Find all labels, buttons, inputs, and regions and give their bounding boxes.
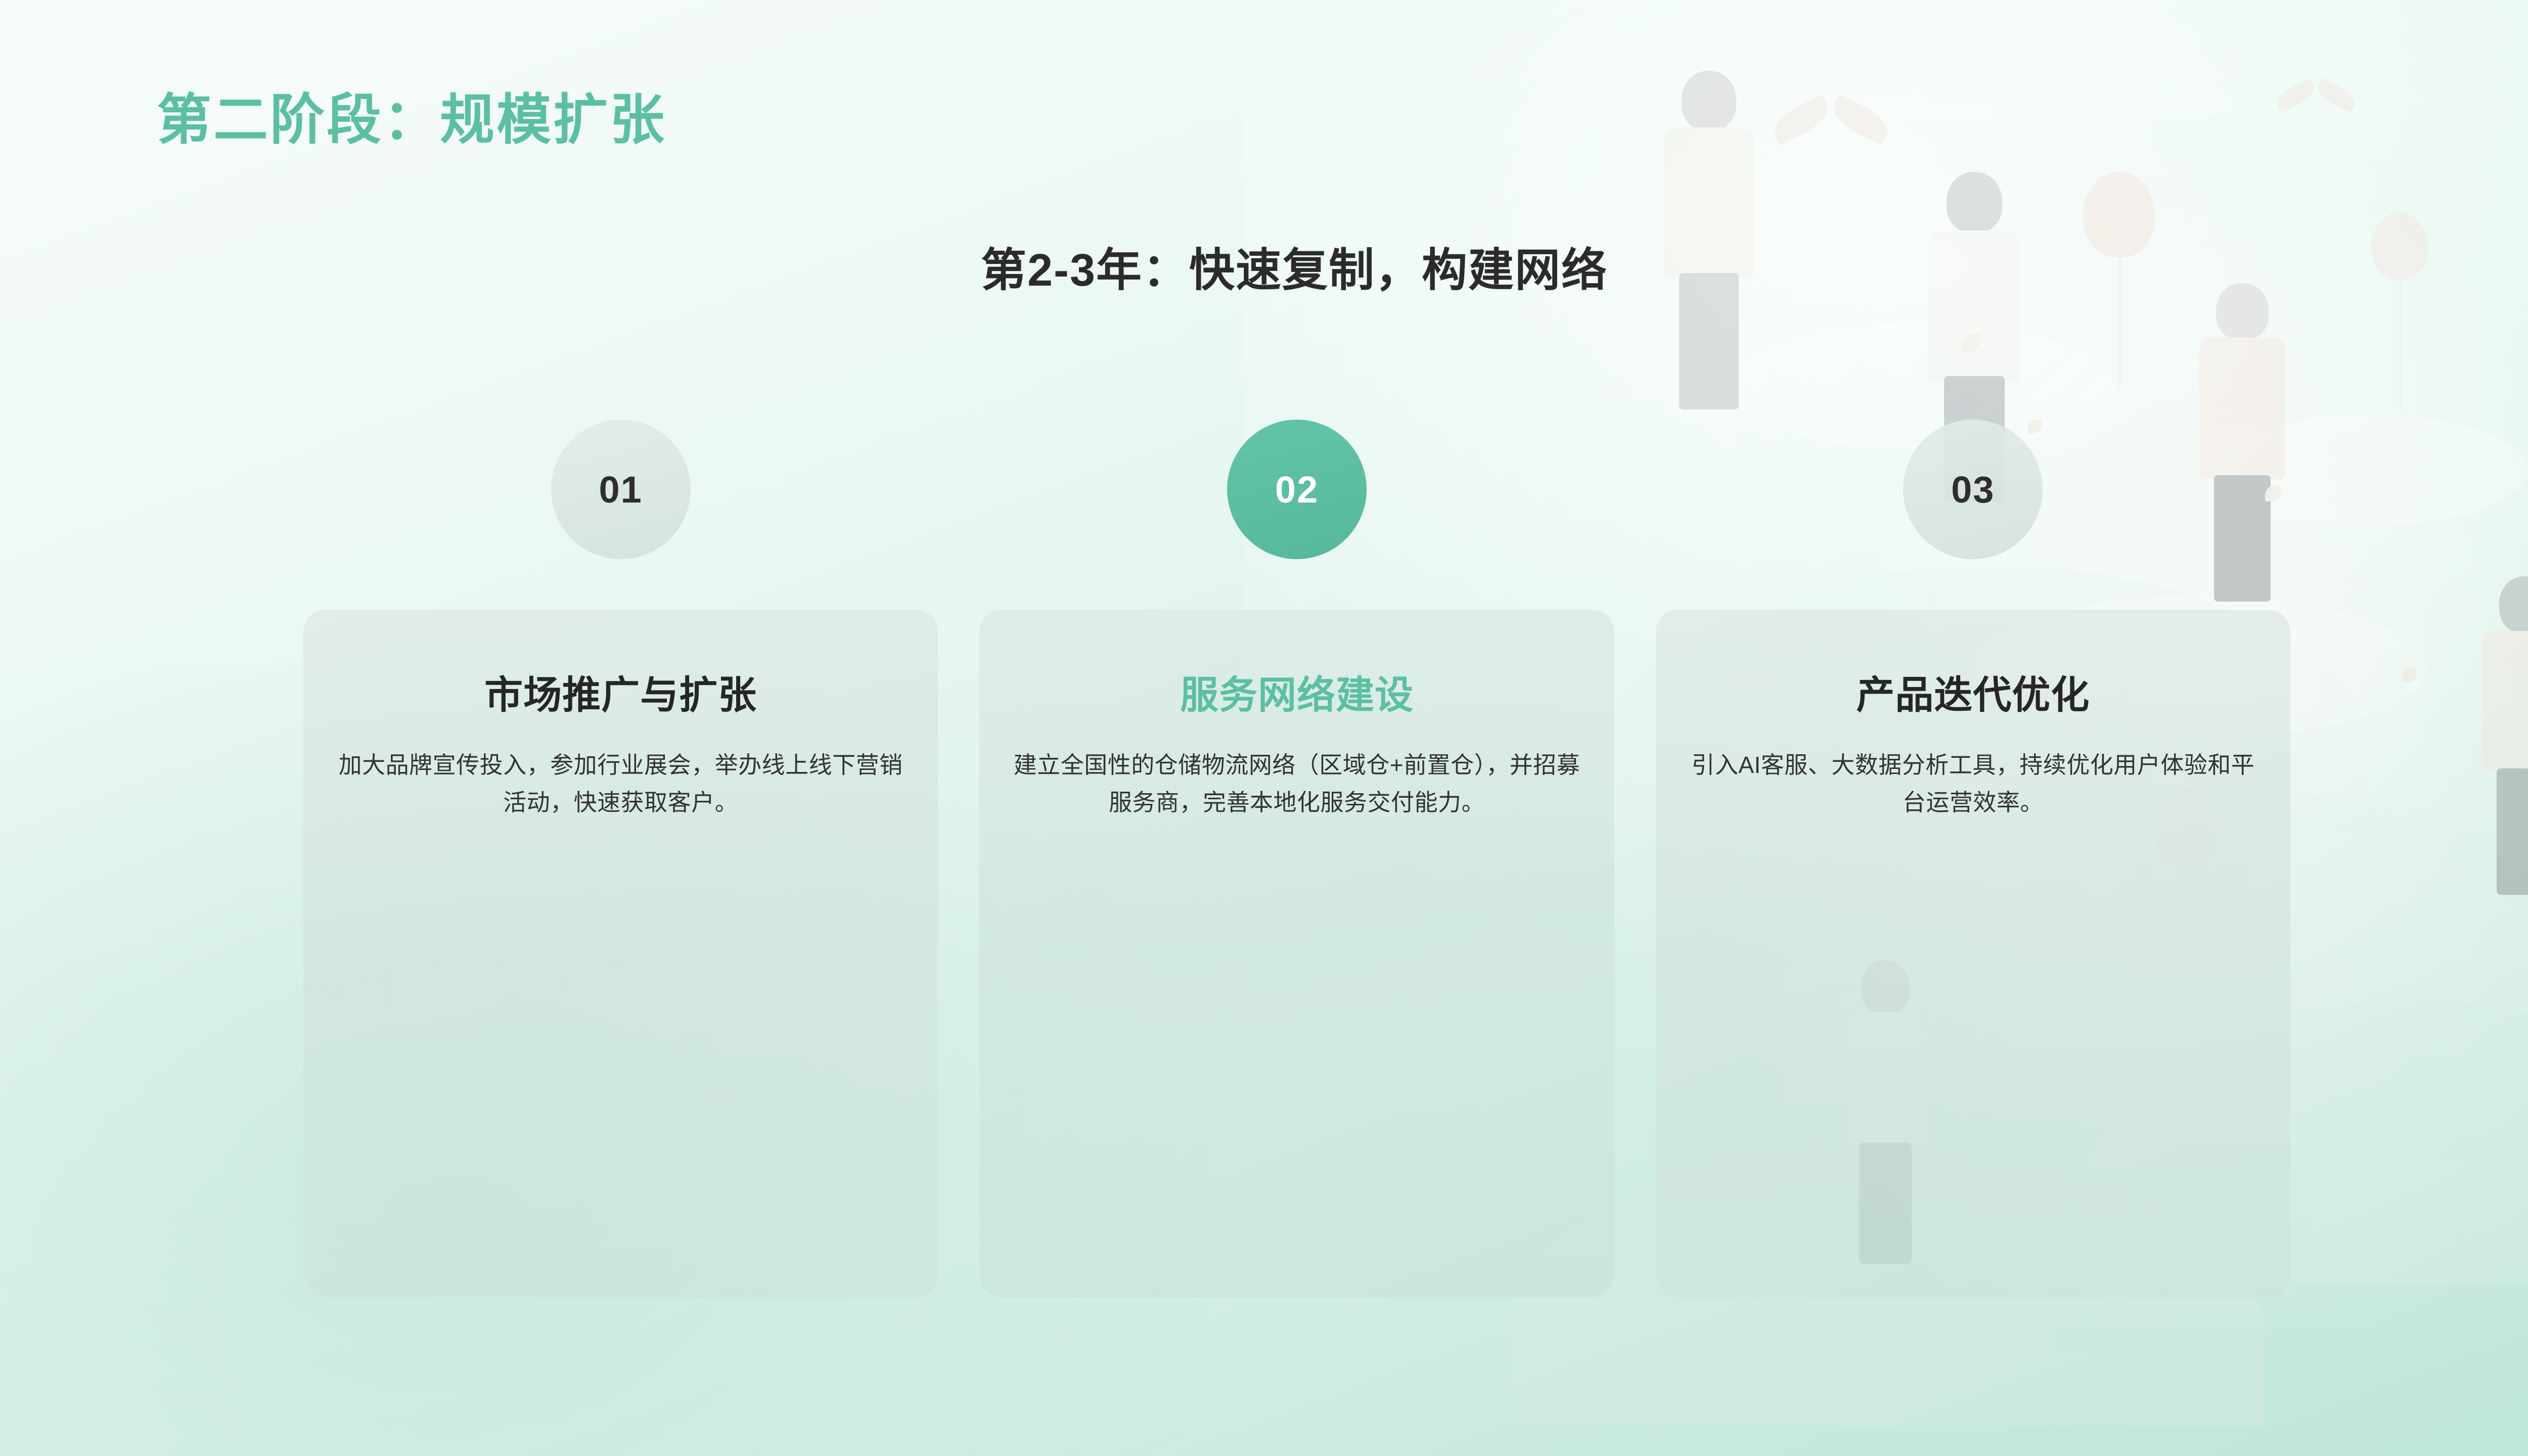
step-card-title: 市场推广与扩张 xyxy=(335,674,907,717)
step-column-03: 03 产品迭代优化 引入AI客服、大数据分析工具，持续优化用户体验和平台运营效率… xyxy=(1656,420,2290,1297)
section-subtitle: 第2-3年：快速复制，构建网络 xyxy=(0,248,2528,293)
step-card-description: 建立全国性的仓储物流网络（区域仓+前置仓），并招募服务商，完善本地化服务交付能力… xyxy=(1011,746,1583,822)
slide-content: 第二阶段：规模扩张 第2-3年：快速复制，构建网络 01 市场推广与扩张 加大品… xyxy=(0,0,2528,1456)
step-card-title: 产品迭代优化 xyxy=(1687,674,2259,717)
step-badge-01[interactable]: 01 xyxy=(551,420,691,559)
step-number-label: 01 xyxy=(599,468,643,511)
step-card-02[interactable]: 服务网络建设 建立全国性的仓储物流网络（区域仓+前置仓），并招募服务商，完善本地… xyxy=(979,610,1614,1297)
step-card-03[interactable]: 产品迭代优化 引入AI客服、大数据分析工具，持续优化用户体验和平台运营效率。 xyxy=(1656,610,2290,1297)
steps-row: 01 市场推广与扩张 加大品牌宣传投入，参加行业展会，举办线上线下营销活动，快速… xyxy=(303,420,2290,1297)
step-card-description: 引入AI客服、大数据分析工具，持续优化用户体验和平台运营效率。 xyxy=(1687,746,2259,822)
step-badge-02[interactable]: 02 xyxy=(1227,420,1367,559)
step-card-title: 服务网络建设 xyxy=(1011,674,1583,717)
step-card-01[interactable]: 市场推广与扩张 加大品牌宣传投入，参加行业展会，举办线上线下营销活动，快速获取客… xyxy=(303,610,938,1297)
step-number-label: 02 xyxy=(1275,468,1319,511)
step-card-description: 加大品牌宣传投入，参加行业展会，举办线上线下营销活动，快速获取客户。 xyxy=(335,746,907,822)
step-column-02: 02 服务网络建设 建立全国性的仓储物流网络（区域仓+前置仓），并招募服务商，完… xyxy=(979,420,1614,1297)
step-column-01: 01 市场推广与扩张 加大品牌宣传投入，参加行业展会，举办线上线下营销活动，快速… xyxy=(303,420,938,1297)
slide-canvas: 第二阶段：规模扩张 第2-3年：快速复制，构建网络 01 市场推广与扩张 加大品… xyxy=(0,0,2528,1456)
step-number-label: 03 xyxy=(1951,468,1995,511)
step-badge-03[interactable]: 03 xyxy=(1903,420,2043,559)
page-title: 第二阶段：规模扩张 xyxy=(157,93,666,147)
